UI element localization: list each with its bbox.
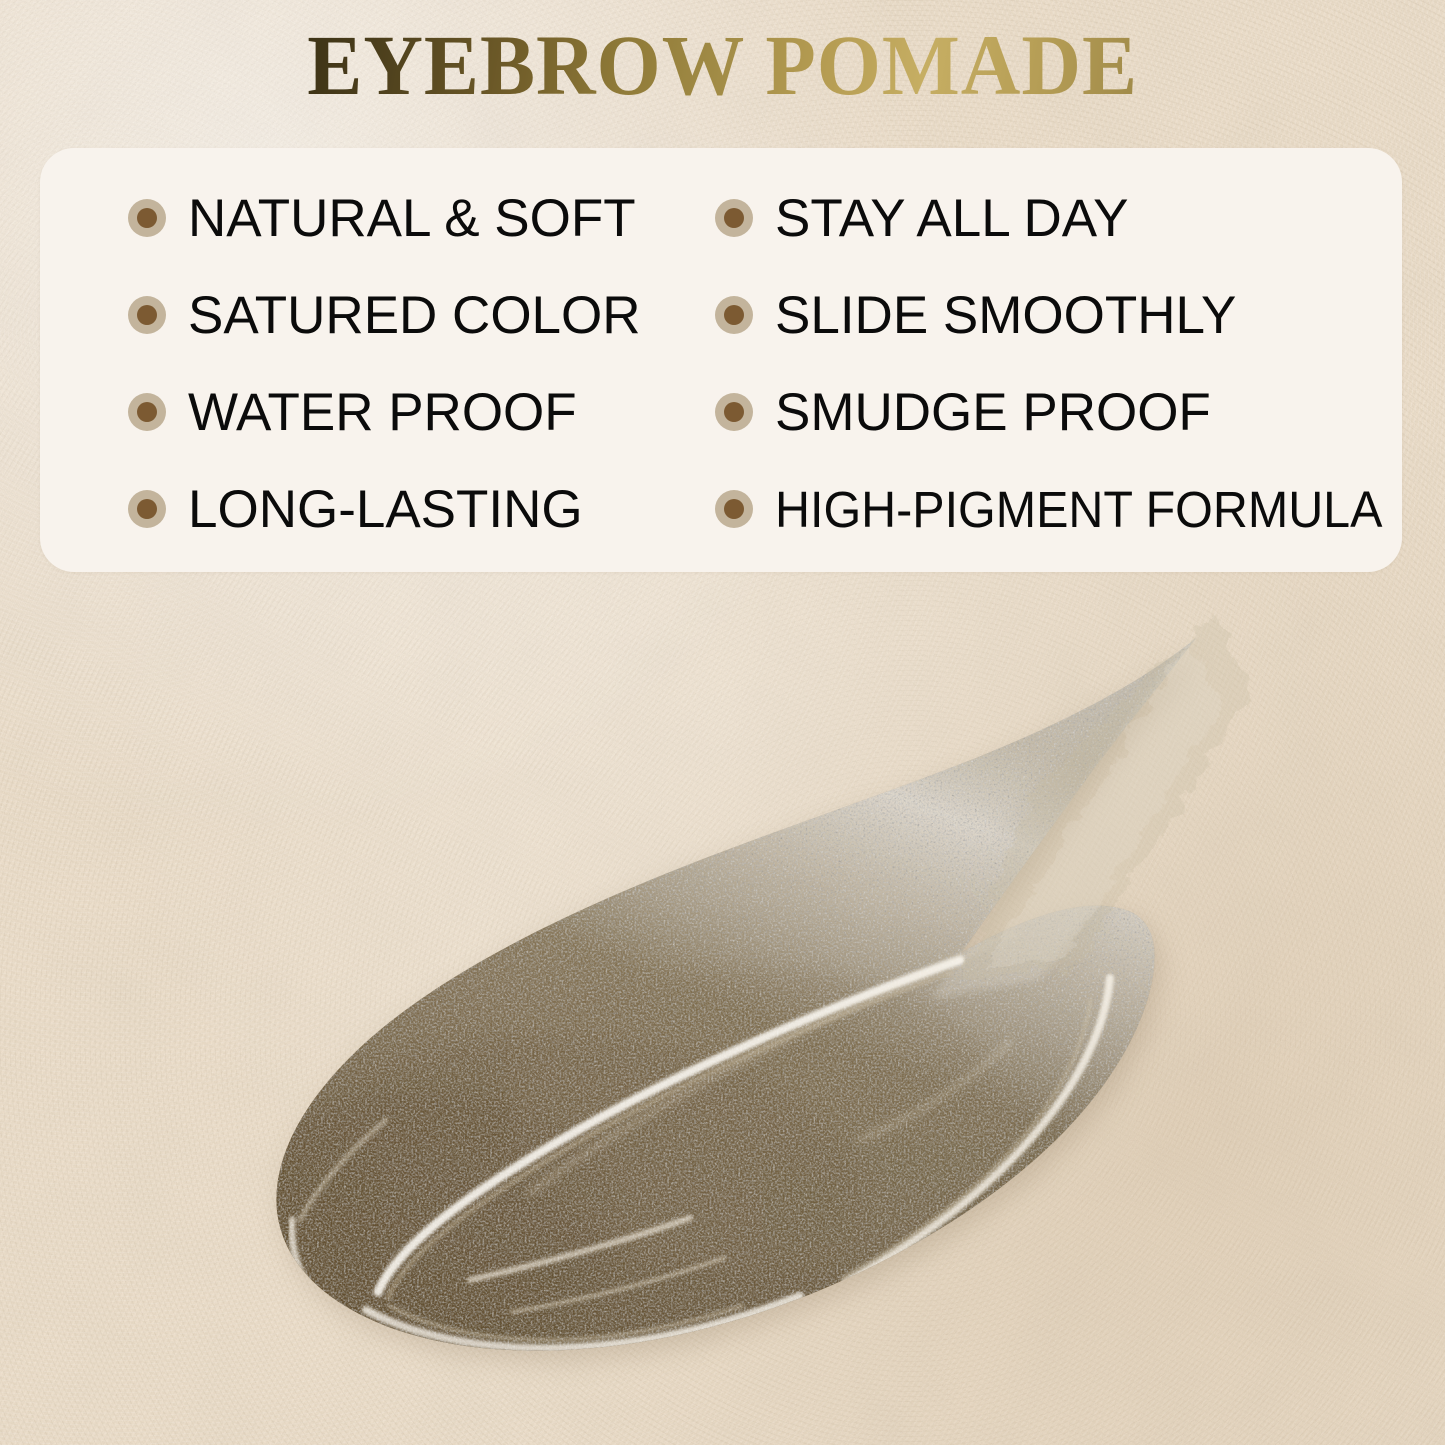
pomade-smear-swatch xyxy=(0,580,1445,1445)
bullet-dot-icon xyxy=(128,296,166,334)
features-grid: NATURAL & SOFT STAY ALL DAY SATURED COLO… xyxy=(40,148,1402,572)
feature-item-high-pigment-formula: HIGH-PIGMENT FORMULA xyxy=(695,483,1402,537)
feature-item-smudge-proof: SMUDGE PROOF xyxy=(695,385,1402,441)
feature-label: HIGH-PIGMENT FORMULA xyxy=(775,483,1382,537)
bullet-dot-icon xyxy=(715,199,753,237)
feature-item-stay-all-day: STAY ALL DAY xyxy=(695,191,1402,247)
product-swatch-area xyxy=(0,580,1445,1445)
bullet-dot-icon xyxy=(128,199,166,237)
feature-item-water-proof: WATER PROOF xyxy=(40,385,695,441)
feature-label: SMUDGE PROOF xyxy=(775,385,1211,441)
bullet-dot-icon xyxy=(715,393,753,431)
feature-label: LONG-LASTING xyxy=(188,482,583,538)
feature-item-natural-soft: NATURAL & SOFT xyxy=(40,191,695,247)
bullet-dot-icon xyxy=(715,296,753,334)
feature-item-slide-smoothly: SLIDE SMOOTHLY xyxy=(695,288,1402,344)
bullet-dot-icon xyxy=(128,490,166,528)
title-container: EYEBROW POMADE xyxy=(0,22,1445,108)
feature-label: SATURED COLOR xyxy=(188,288,641,344)
feature-label: WATER PROOF xyxy=(188,385,577,441)
feature-item-satured-color: SATURED COLOR xyxy=(40,288,695,344)
feature-label: SLIDE SMOOTHLY xyxy=(775,288,1236,344)
feature-item-long-lasting: LONG-LASTING xyxy=(40,482,695,538)
features-card: NATURAL & SOFT STAY ALL DAY SATURED COLO… xyxy=(40,148,1402,572)
bullet-dot-icon xyxy=(715,490,753,528)
page-title: EYEBROW POMADE xyxy=(307,22,1138,108)
bullet-dot-icon xyxy=(128,393,166,431)
feature-label: STAY ALL DAY xyxy=(775,191,1129,247)
feature-label: NATURAL & SOFT xyxy=(188,191,636,247)
